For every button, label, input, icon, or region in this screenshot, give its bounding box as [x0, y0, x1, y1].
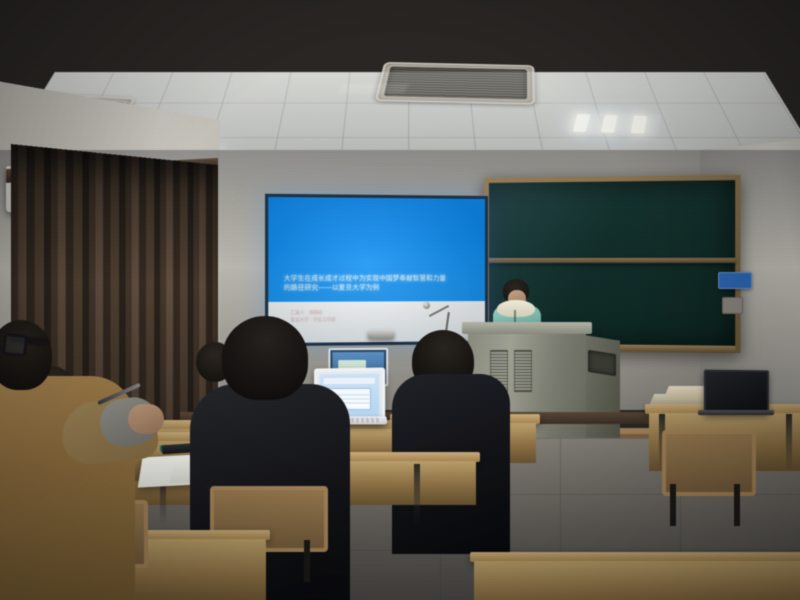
screen-glow [268, 197, 485, 343]
desk-leg [414, 464, 420, 526]
desk-front [474, 561, 800, 600]
classroom-photo: 大学生在成长成才过程中为实现中国梦奉献智慧和力量 的路径研究——以复旦大学为例 … [0, 0, 800, 600]
wall-outlet [722, 297, 743, 314]
lectern-equipment-recess [588, 350, 616, 376]
chair-right [662, 430, 748, 526]
laptop-black-right-desk [704, 370, 769, 415]
lectern-top [462, 322, 592, 334]
laptop-window-titlebar [324, 378, 375, 384]
wall-sign [718, 272, 752, 289]
lectern-vent [514, 350, 532, 392]
projection-screen: 大学生在成长成才过程中为实现中国梦奉献智慧和力量 的路径研究——以复旦大学为例 … [268, 197, 485, 343]
desk-leg [786, 414, 792, 472]
audience-member-front-left-hand [128, 404, 164, 434]
chair-leg [734, 484, 740, 526]
laptop-black-base [698, 410, 775, 415]
chair-leg [304, 540, 310, 582]
chair-back [662, 430, 756, 496]
projection-screen-frame: 大学生在成长成才过程中为实现中国梦奉献智慧和力量 的路径研究——以复旦大学为例 … [265, 194, 488, 347]
audience-member-center-head [222, 316, 308, 400]
presenter-collar [497, 300, 535, 317]
microphone-base [368, 330, 394, 339]
microphone-head-icon [423, 302, 430, 309]
chair-leg [670, 484, 676, 526]
glasses-lens-icon [2, 333, 28, 357]
desk-foreground-right [470, 552, 800, 600]
